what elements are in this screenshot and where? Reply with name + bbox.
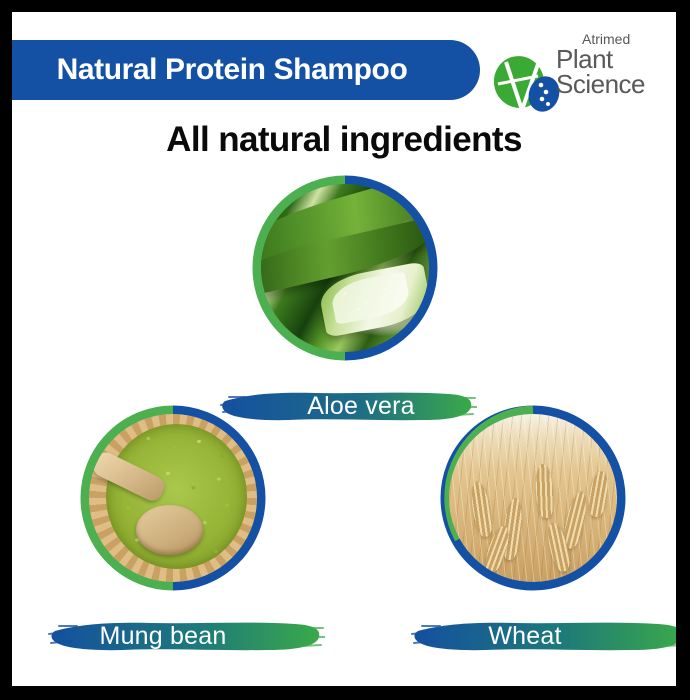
poster-canvas: Natural Protein Shampoo Atrimed Plant Sc… [12,12,676,686]
ingredient-mung-bean [80,405,266,591]
label-banner-wheat: Wheat [410,615,676,657]
aloe-photo [261,184,429,352]
wheat-circle [440,405,626,591]
label-banner-mung-bean: Mung bean [47,615,325,657]
header-banner: Natural Protein Shampoo [12,40,480,100]
poster-frame: Natural Protein Shampoo Atrimed Plant Sc… [0,0,690,700]
mung-circle [80,405,266,591]
wheat-photo [449,414,617,582]
mung-photo [89,414,257,582]
ingredient-wheat [440,405,626,591]
brand-logo: Atrimed Plant Science [490,32,668,118]
ingredient-aloe-vera [252,175,438,361]
atrimed-leaf-mark-icon [492,54,562,116]
aloe-circle [252,175,438,361]
label-text-mung-bean: Mung bean [47,615,325,657]
brand-line-science: Science [556,72,668,97]
main-heading: All natural ingredients [12,120,676,160]
header-title: Natural Protein Shampoo [57,53,408,87]
brand-wordmark: Atrimed Plant Science [556,32,668,98]
label-text-wheat: Wheat [410,615,676,657]
